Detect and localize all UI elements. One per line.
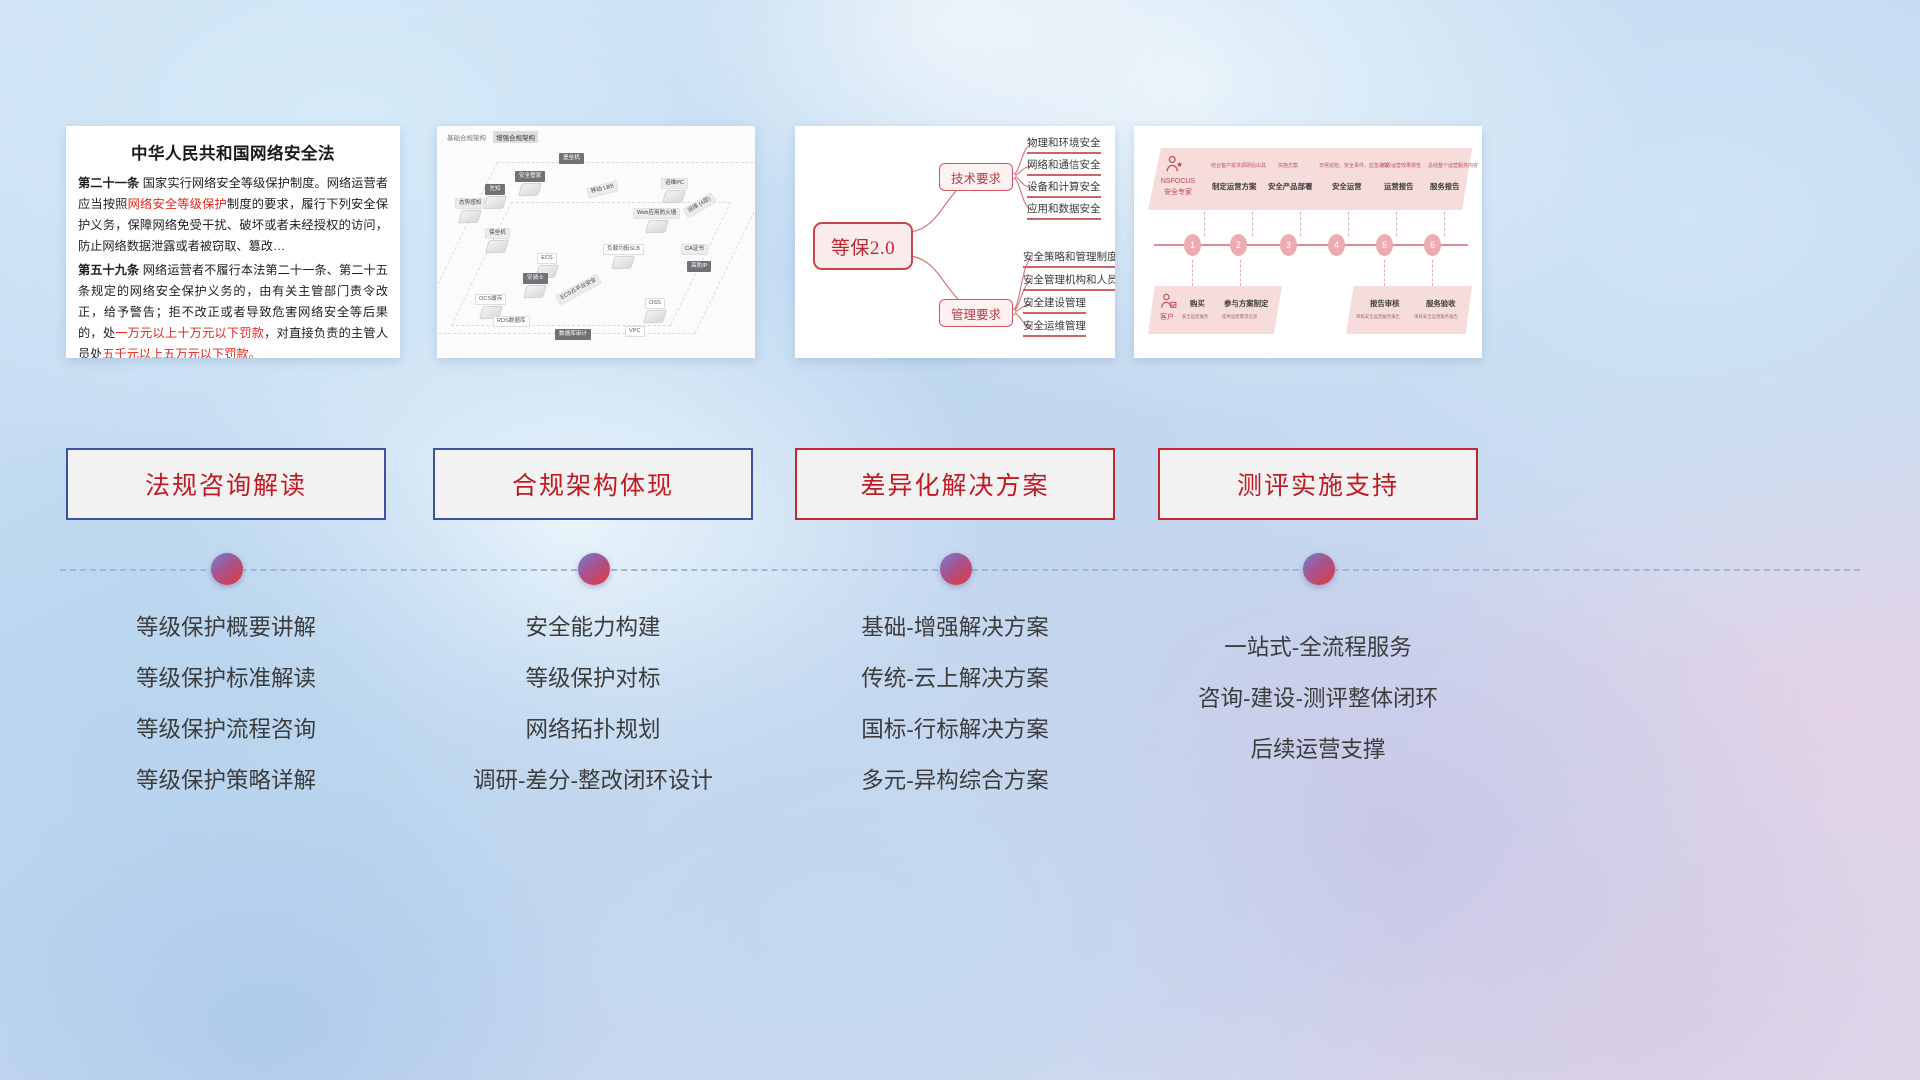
arch-node-bastion-top: 堡垒机: [559, 153, 584, 164]
arch-node-anqishi: 安骑士: [523, 273, 548, 298]
timeline-step-6[interactable]: 6: [1424, 234, 1441, 256]
arch-node-waf: Web应用防火墙: [633, 208, 680, 233]
mindmap-core-node: 等保2.0: [813, 222, 913, 270]
brand-subtitle: 安全专家: [1156, 189, 1200, 198]
step-sub: 阶段运营效果报告: [1381, 162, 1421, 169]
card-nsfocus-service-timeline[interactable]: NSFOCUS 安全专家 结合客户需求调研后出具 制定运营方案 实施方案 安全产…: [1134, 126, 1482, 358]
pillar-item: 一站式-全流程服务: [1138, 622, 1498, 673]
arch-box-icon: [458, 209, 482, 223]
mindmap-branch-technical: 技术要求: [939, 163, 1013, 191]
arch-box-icon: [483, 195, 507, 209]
timeline-step-5[interactable]: 5: [1376, 234, 1393, 256]
expert-person-icon: [1164, 154, 1186, 176]
arch-label: 态势感知: [455, 198, 485, 209]
arch-label: 保垒机: [485, 228, 510, 239]
customer-task-title: 参与方案制定: [1224, 298, 1268, 309]
arch-label: Web应用防火墙: [633, 208, 680, 219]
step-title: 安全产品部署: [1268, 181, 1312, 192]
pillar-node-dot-4[interactable]: [1303, 553, 1335, 585]
customer-task-sub: 提供运营需求信息: [1222, 314, 1257, 320]
pillar-node-dot-3[interactable]: [940, 553, 972, 585]
preview-card-row: 中华人民共和国网络安全法 第二十一条 国家实行网络安全等级保护制度。网络运营者应…: [0, 126, 1920, 366]
arch-label: 先知: [485, 184, 504, 195]
law-article-21-label: 第二十一条: [78, 176, 139, 190]
law-article-59-label: 第五十九条: [78, 263, 139, 277]
connector-dash: [1384, 260, 1386, 286]
arch-node-situational-awareness: 态势感知: [455, 198, 485, 223]
customer-person-icon: [1158, 292, 1178, 312]
step-title: 制定运营方案: [1212, 181, 1256, 192]
arch-box-icon: [518, 182, 542, 196]
arch-box-icon: [643, 309, 667, 323]
connector-dash: [1204, 212, 1206, 236]
step-sub: 实施方案: [1278, 162, 1298, 169]
pillar-item: 国标-行标解决方案: [795, 704, 1115, 755]
pillar-items-3: 基础-增强解决方案 传统-云上解决方案 国标-行标解决方案 多元-异构综合方案: [795, 602, 1115, 806]
pillar-title-3: 差异化解决方案: [860, 466, 1049, 502]
arch-box-icon: [485, 239, 509, 253]
tab-enhanced-architecture[interactable]: 增强合规架构: [493, 131, 538, 143]
arch-node-ca-cert: CA证书: [681, 244, 708, 255]
customer-task-title: 购买: [1190, 298, 1205, 309]
pillar-item: 后续运营支撑: [1138, 724, 1498, 775]
arch-label: OSS: [645, 298, 665, 309]
arch-label: 堡垒机: [559, 153, 584, 164]
connector-dash: [1192, 260, 1194, 286]
pillar-item: 多元-异构综合方案: [795, 755, 1115, 806]
mindmap-leaf: 安全策略和管理制度: [1023, 249, 1115, 268]
connector-dash: [1240, 260, 1242, 286]
connector-dash: [1444, 212, 1446, 236]
pillar-item: 咨询-建设-测评整体闭环: [1138, 673, 1498, 724]
arch-label: 高防IP: [687, 261, 711, 272]
law-title: 中华人民共和国网络安全法: [78, 140, 388, 164]
mindmap-leaf: 物理和环境安全: [1027, 135, 1101, 154]
mindmap-leaf: 安全建设管理: [1023, 295, 1086, 314]
law-article-59: 第五十九条 网络运营者不履行本法第二十一条、第二十五条规定的网络安全保护义务的，…: [78, 260, 388, 358]
arch-node-xianzhi: 先知: [485, 184, 505, 209]
nsfocus-timeline: NSFOCUS 安全专家 结合客户需求调研后出具 制定运营方案 实施方案 安全产…: [1134, 126, 1482, 358]
arch-node-anti-ddos-ip: 高防IP: [687, 261, 711, 272]
pillar-item: 网络拓扑规划: [433, 704, 753, 755]
pillar-node-dot-1[interactable]: [211, 553, 243, 585]
arch-label: 运维PC: [661, 178, 688, 189]
mindmap-leaf: 安全运维管理: [1023, 318, 1086, 337]
pillar-items-4: 一站式-全流程服务 咨询-建设-测评整体闭环 后续运营支撑: [1138, 622, 1498, 775]
step-sub: 日常巡检、安全事件、应急处置: [1319, 162, 1389, 169]
law-article-59-highlight-1: 一万元以上十万元以下罚款: [115, 326, 264, 340]
customer-label: 客户: [1150, 314, 1184, 323]
arch-node-bastion-host: 保垒机: [485, 228, 510, 253]
pillar-node-dot-2[interactable]: [578, 553, 610, 585]
architecture-tabs[interactable]: 基础合规架构 增强合规架构: [444, 131, 538, 143]
arch-label: ECS: [537, 253, 557, 264]
law-text-body: 中华人民共和国网络安全法 第二十一条 国家实行网络安全等级保护制度。网络运营者应…: [66, 126, 400, 358]
arch-node-ocs-cache: OCS缓存: [475, 294, 506, 319]
pillar-item: 等级保护概要讲解: [66, 602, 386, 653]
arch-box-icon: [611, 255, 635, 269]
pillar-items-2: 安全能力构建 等级保护对标 网络拓扑规划 调研-差分-整改闭环设计: [433, 602, 753, 806]
architecture-diagram: 基础合规架构 增强合规架构 堡垒机 安全管家 先知 态势感知: [437, 126, 755, 358]
arch-node-oss: OSS: [645, 298, 665, 323]
timeline-step-4[interactable]: 4: [1328, 234, 1345, 256]
arch-label: 安骑士: [523, 273, 548, 284]
arch-label: OCS缓存: [475, 294, 506, 305]
timeline-step-3[interactable]: 3: [1280, 234, 1297, 256]
arch-node-rds: RDS数据库: [493, 316, 530, 327]
step-sub: 总结整个运营服务内容: [1428, 162, 1478, 169]
step-title: 服务报告: [1430, 181, 1460, 192]
arch-node-db-audit: 数据库审计: [555, 329, 591, 340]
mindmap: 等保2.0 技术要求 管理要求 物理和环境安全 网络和通信安全 设备和计算安全 …: [795, 126, 1115, 358]
mindmap-leaf: 应用和数据安全: [1027, 201, 1101, 220]
customer-task-sub: 安全运营服务: [1182, 314, 1208, 320]
timeline-axis: [1154, 244, 1468, 246]
arch-node-ops-layer4: 运维 (4层): [683, 200, 716, 211]
pillar-item: 等级保护流程咨询: [66, 704, 386, 755]
timeline-step-1[interactable]: 1: [1184, 234, 1201, 256]
pillar-title-4: 测评实施支持: [1237, 466, 1399, 502]
pillar-header-4[interactable]: 测评实施支持: [1158, 448, 1478, 520]
pillar-title-2: 合规架构体现: [512, 466, 674, 502]
pillar-item: 基础-增强解决方案: [795, 602, 1115, 653]
mindmap-leaf: 安全管理机构和人员: [1023, 272, 1115, 291]
tab-basic-architecture[interactable]: 基础合规架构: [444, 131, 489, 143]
arch-node-security-butler: 安全管家: [515, 171, 545, 196]
pillar-header-1[interactable]: 法规咨询解读: [66, 448, 386, 520]
arch-label: 数据库审计: [555, 329, 591, 340]
arch-node-ecs-cloud-security: ECS云平台安全: [555, 284, 602, 295]
customer-task-sub: 审核安全运营服务报告: [1414, 314, 1458, 320]
pillar-item: 安全能力构建: [433, 602, 753, 653]
pillar-header-2[interactable]: 合规架构体现: [433, 448, 753, 520]
step-title: 运营报告: [1384, 181, 1414, 192]
mindmap-branch-management: 管理要求: [939, 299, 1013, 327]
customer-task-title: 报告审核: [1370, 298, 1400, 309]
law-article-59-highlight-2: 五千元以上五万元以下罚款。: [102, 347, 260, 358]
pillar-item: 等级保护标准解读: [66, 653, 386, 704]
pillar-item: 等级保护对标: [433, 653, 753, 704]
arch-label: 安全管家: [515, 171, 545, 182]
arch-box-icon: [645, 219, 669, 233]
brand-name: NSFOCUS: [1156, 178, 1200, 187]
connector-dash: [1348, 212, 1350, 236]
arch-node-mobile-lbs: 移动 LBS: [587, 184, 618, 195]
arch-node-ops-pc: 运维PC: [661, 178, 688, 203]
pillar-title-1: 法规咨询解读: [145, 466, 307, 502]
card-dengbao-mindmap[interactable]: 等保2.0 技术要求 管理要求 物理和环境安全 网络和通信安全 设备和计算安全 …: [795, 126, 1115, 358]
step-sub: 结合客户需求调研后出具: [1211, 162, 1266, 169]
card-cybersecurity-law[interactable]: 中华人民共和国网络安全法 第二十一条 国家实行网络安全等级保护制度。网络运营者应…: [66, 126, 400, 358]
customer-task-sub: 审核安全运营服务报告: [1356, 314, 1400, 320]
arch-label: VPC: [625, 326, 645, 337]
timeline-step-2[interactable]: 2: [1230, 234, 1247, 256]
mindmap-leaf: 网络和通信安全: [1027, 157, 1101, 176]
pillar-item: 调研-差分-整改闭环设计: [433, 755, 753, 806]
pillar-item: 传统-云上解决方案: [795, 653, 1115, 704]
arch-node-vpc: VPC: [625, 326, 645, 337]
arch-label: CA证书: [681, 244, 708, 255]
arch-node-slb: 负载均衡SLB: [603, 244, 644, 269]
step-title: 安全运营: [1332, 181, 1362, 192]
arch-label: RDS数据库: [493, 316, 530, 327]
pillar-header-row: 法规咨询解读 合规架构体现 差异化解决方案 测评实施支持: [0, 448, 1920, 520]
connector-dash: [1252, 212, 1254, 236]
customer-band-right: [1346, 286, 1472, 334]
card-compliance-architecture[interactable]: 基础合规架构 增强合规架构 堡垒机 安全管家 先知 态势感知: [437, 126, 755, 358]
pillar-item: 等级保护策略详解: [66, 755, 386, 806]
arch-box-icon: [523, 284, 547, 298]
connector-dash: [1300, 212, 1302, 236]
pillar-header-3[interactable]: 差异化解决方案: [795, 448, 1115, 520]
law-article-21: 第二十一条 国家实行网络安全等级保护制度。网络运营者应当按照网络安全等级保护制度…: [78, 173, 388, 257]
connector-dash: [1396, 212, 1398, 236]
pillar-items-1: 等级保护概要讲解 等级保护标准解读 等级保护流程咨询 等级保护策略详解: [66, 602, 386, 806]
mindmap-leaf: 设备和计算安全: [1027, 179, 1101, 198]
connector-dash: [1432, 260, 1434, 286]
law-article-21-highlight: 网络安全等级保护: [128, 197, 227, 211]
arch-label: 负载均衡SLB: [603, 244, 644, 255]
customer-task-title: 服务验收: [1426, 298, 1456, 309]
